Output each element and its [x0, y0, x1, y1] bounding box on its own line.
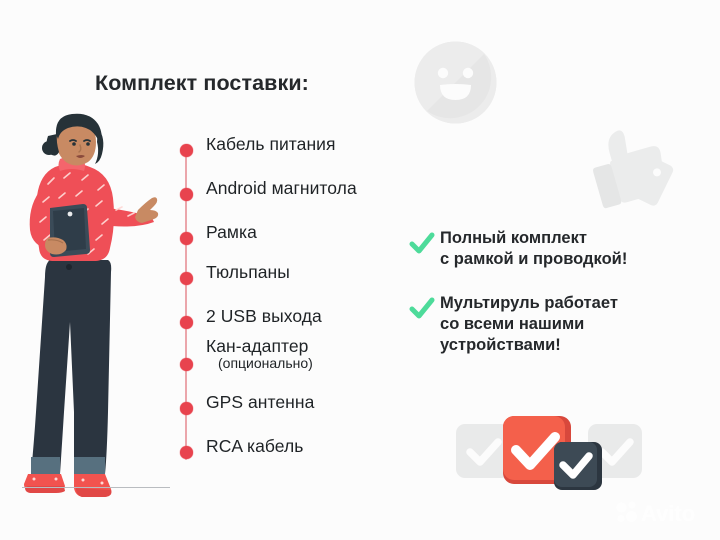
list-item-label: Android магнитола	[206, 178, 357, 199]
list-item-label: 2 USB выхода	[206, 306, 322, 327]
green-check-icon	[409, 296, 435, 322]
ground-line	[22, 487, 170, 488]
svg-text:Avito: Avito	[641, 501, 695, 526]
bullet-dot	[180, 316, 193, 329]
list-item-label: Тюльпаны	[206, 262, 290, 283]
smiley-face-icon	[409, 36, 502, 129]
list-item-label: GPS антенна	[206, 392, 314, 413]
bullet-dot	[180, 144, 193, 157]
checkbox-group-icon	[456, 408, 642, 496]
benefit-text-2: Мультируль работаетсо всеми нашимиустрой…	[440, 293, 618, 356]
bullet-dot	[180, 272, 193, 285]
page-title: Комплект поставки:	[95, 71, 309, 96]
list-item-label: Кабель питания	[206, 134, 336, 155]
package-contents-list: Кабель питания Android магнитола Рамка Т…	[180, 130, 440, 470]
woman-pointing-illustration	[12, 112, 177, 502]
list-item-sublabel: (опционально)	[218, 355, 313, 371]
thumbs-up-icon	[576, 112, 684, 220]
promo-card: Avito	[0, 0, 720, 540]
avito-watermark: Avito	[614, 498, 712, 528]
list-item-label: Кан-адаптер	[206, 336, 308, 357]
bullet-dot	[180, 358, 193, 371]
list-item-label: Рамка	[206, 222, 257, 243]
bullet-dot	[180, 446, 193, 459]
bullet-dot	[180, 402, 193, 415]
benefit-text-1: Полный комплектс рамкой и проводкой!	[440, 228, 627, 270]
bullet-dot	[180, 188, 193, 201]
bullet-dot	[180, 232, 193, 245]
list-item-label: RCA кабель	[206, 436, 303, 457]
green-check-icon	[409, 231, 435, 257]
